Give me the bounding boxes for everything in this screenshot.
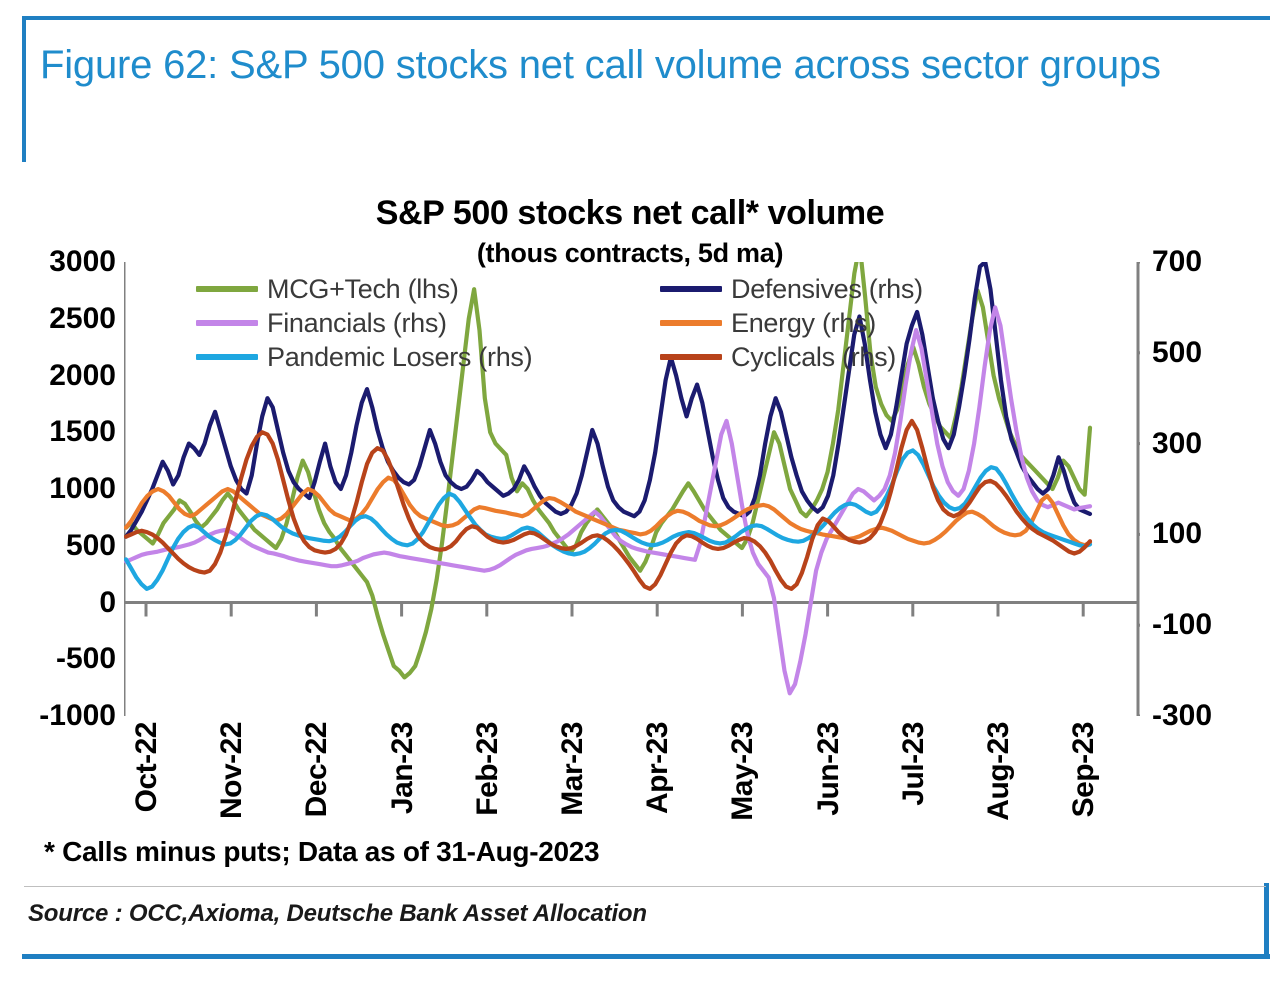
x-axis-tick-label: Aug-23 [982, 722, 1016, 821]
y-axis-right: 700500300100-100-300 [1152, 262, 1272, 716]
y-axis-right-tick-label: 700 [1152, 245, 1202, 279]
legend-swatch-pandemic-losers [196, 354, 258, 360]
legend-item-defensives[interactable]: Defensives (rhs) [660, 274, 956, 305]
legend-label-pandemic-losers: Pandemic Losers (rhs) [267, 342, 532, 373]
y-axis-left-tick-label: -1000 [39, 699, 116, 733]
legend-label-mcg-tech: MCG+Tech (lhs) [267, 274, 459, 305]
y-axis-right-tick-label: -100 [1152, 608, 1212, 642]
x-axis-tick-label: Dec-22 [300, 722, 334, 817]
y-axis-left-tick-label: 1000 [49, 472, 116, 506]
legend-item-energy[interactable]: Energy (rhs) [660, 308, 956, 339]
x-axis-tick-label: Feb-23 [471, 722, 505, 816]
x-axis-tick-label: May-23 [726, 722, 760, 821]
legend-item-mcg-tech[interactable]: MCG+Tech (lhs) [196, 274, 660, 305]
figure-headline: Figure 62: S&P 500 stocks net call volum… [40, 38, 1230, 93]
y-axis-right-tick-label: -300 [1152, 699, 1212, 733]
x-axis-tick-label: Nov-22 [215, 722, 249, 819]
legend-swatch-financials [196, 320, 258, 326]
legend-swatch-cyclicals [660, 354, 722, 360]
figure-left-border [22, 16, 26, 162]
figure-top-border [22, 16, 1270, 20]
x-axis-tick-label: Apr-23 [641, 722, 675, 814]
chart-legend: MCG+Tech (lhs)Defensives (rhs)Financials… [196, 272, 956, 376]
x-axis-tick-label: Jul-23 [897, 722, 931, 806]
legend-swatch-energy [660, 320, 722, 326]
figure-container: Figure 62: S&P 500 stocks net call volum… [0, 0, 1280, 982]
figure-right-border [1264, 883, 1269, 955]
y-axis-left: 300025002000150010005000-500-1000 [10, 262, 116, 716]
legend-label-financials: Financials (rhs) [267, 308, 447, 339]
y-axis-left-tick-label: 2000 [49, 359, 116, 393]
x-axis-tick-label: Jan-23 [386, 722, 420, 814]
y-axis-left-tick-label: -500 [56, 642, 116, 676]
y-axis-left-tick-label: 0 [99, 586, 116, 620]
legend-label-defensives: Defensives (rhs) [731, 274, 923, 305]
legend-item-financials[interactable]: Financials (rhs) [196, 308, 660, 339]
y-axis-left-tick-label: 1500 [49, 415, 116, 449]
x-axis-tick-label: Sep-23 [1067, 722, 1101, 817]
x-axis-tick-label: Mar-23 [556, 722, 590, 816]
x-axis-tick-label: Oct-22 [130, 722, 164, 812]
y-axis-left-tick-label: 2500 [49, 302, 116, 336]
y-axis-right-tick-label: 300 [1152, 427, 1202, 461]
source-separator [24, 886, 1266, 887]
legend-label-cyclicals: Cyclicals (rhs) [731, 342, 896, 373]
x-axis: Oct-22Nov-22Dec-22Jan-23Feb-23Mar-23Apr-… [124, 722, 1140, 842]
legend-swatch-mcg-tech [196, 286, 258, 292]
figure-bottom-border [22, 954, 1270, 959]
y-axis-left-tick-label: 500 [66, 529, 116, 563]
chart-footnote: * Calls minus puts; Data as of 31-Aug-20… [44, 836, 599, 868]
source-line: Source : OCC,Axioma, Deutsche Bank Asset… [28, 900, 647, 928]
y-axis-left-tick-label: 3000 [49, 245, 116, 279]
legend-swatch-defensives [660, 286, 722, 292]
legend-item-pandemic-losers[interactable]: Pandemic Losers (rhs) [196, 342, 660, 373]
y-axis-right-tick-label: 500 [1152, 336, 1202, 370]
legend-item-cyclicals[interactable]: Cyclicals (rhs) [660, 342, 956, 373]
chart-title: S&P 500 stocks net call* volume [120, 194, 1140, 233]
legend-label-energy: Energy (rhs) [731, 308, 876, 339]
y-axis-right-tick-label: 100 [1152, 517, 1202, 551]
x-axis-tick-label: Jun-23 [812, 722, 846, 816]
